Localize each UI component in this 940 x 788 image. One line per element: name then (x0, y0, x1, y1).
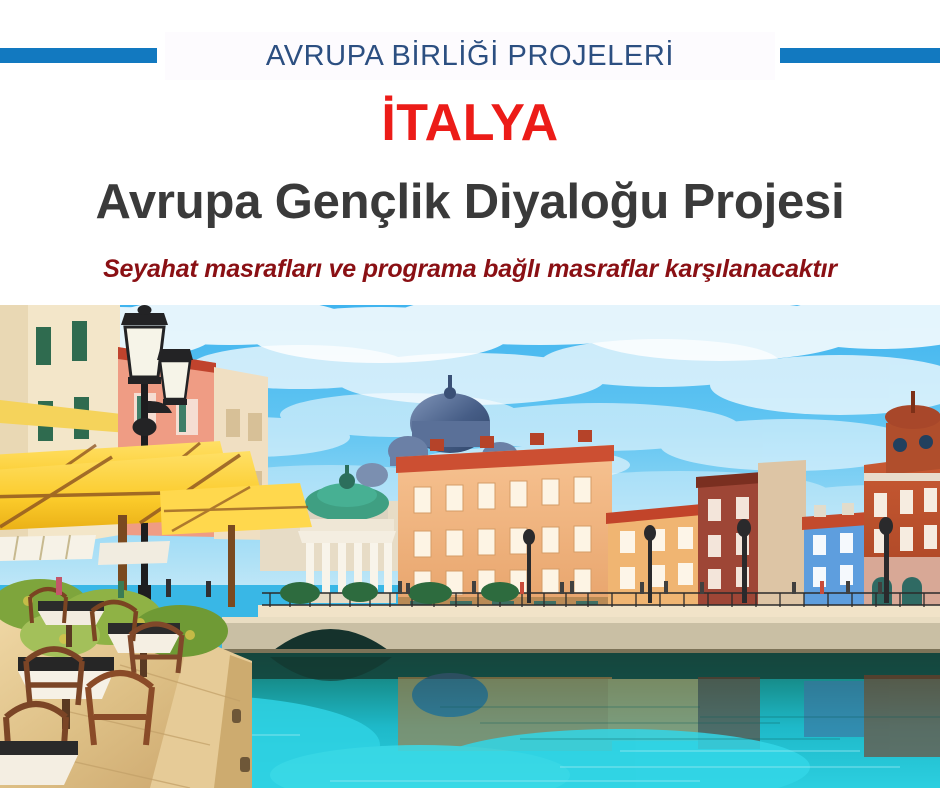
kicker-text: AVRUPA BİRLİĞİ PROJELERİ (0, 36, 940, 76)
poster-header: AVRUPA BİRLİĞİ PROJELERİ İTALYA Avrupa G… (0, 0, 940, 305)
country-title: İTALYA (0, 94, 940, 152)
page-title: Avrupa Gençlik Diyaloğu Projesi (0, 173, 940, 231)
pedestrians (56, 577, 62, 595)
trieste-canal-illustration (0, 305, 940, 788)
kicker-row: AVRUPA BİRLİĞİ PROJELERİ (0, 36, 940, 76)
poster-root: AVRUPA BİRLİĞİ PROJELERİ İTALYA Avrupa G… (0, 0, 940, 788)
stone-bridge (222, 617, 940, 659)
subtitle-text: Seyahat masrafları ve programa bağlı mas… (0, 252, 940, 286)
hero-photo (0, 305, 940, 788)
